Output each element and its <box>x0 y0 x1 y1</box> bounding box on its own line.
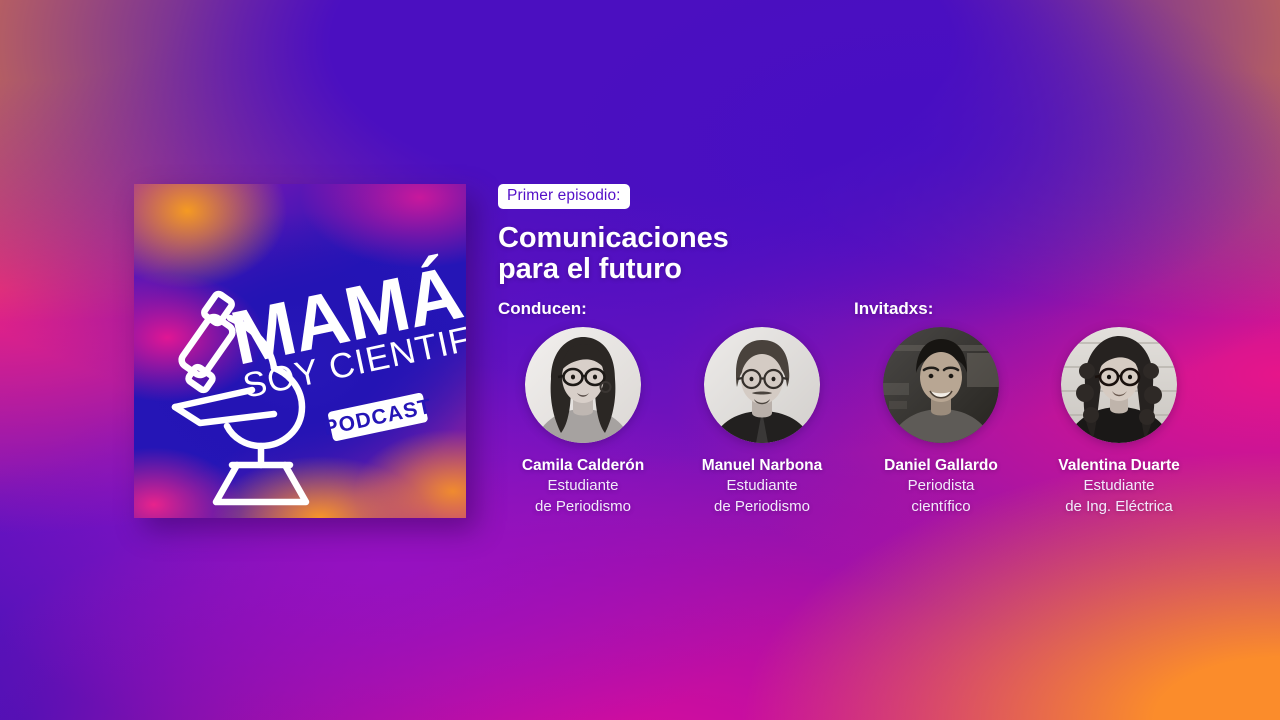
person-name: Camila Calderón <box>494 457 672 475</box>
person-name: Manuel Narbona <box>673 457 851 475</box>
avatar-valentina-duarte[interactable] <box>1061 327 1177 443</box>
podcast-promo-slide: MAMÁ SOY CIENTIFIC@ PODCAST Primer episo… <box>0 0 1280 720</box>
podcast-cover-art[interactable]: MAMÁ SOY CIENTIFIC@ PODCAST <box>134 184 466 518</box>
person-manuel-narbona[interactable]: Manuel Narbona Estudiante de Periodismo <box>673 327 851 518</box>
person-camila-calderon[interactable]: Camila Calderón Estudiante de Periodismo <box>494 327 672 518</box>
person-daniel-gallardo[interactable]: Daniel Gallardo Periodista científico <box>852 327 1030 518</box>
person-role-line-1: Estudiante <box>1030 476 1208 497</box>
avatar-camila-calderon[interactable] <box>525 327 641 443</box>
person-role-line-2: de Periodismo <box>494 497 672 518</box>
person-role: Periodista científico <box>852 476 1030 517</box>
episode-title-line-2: para el futuro <box>498 254 1198 285</box>
people-row: Camila Calderón Estudiante de Periodismo <box>498 327 1198 527</box>
person-valentina-duarte[interactable]: Valentina Duarte Estudiante de Ing. Eléc… <box>1030 327 1208 518</box>
person-role: Estudiante de Periodismo <box>673 476 851 517</box>
cover-art-logo: MAMÁ SOY CIENTIFIC@ PODCAST <box>134 184 466 518</box>
episode-badge: Primer episodio: <box>498 184 630 209</box>
person-name: Valentina Duarte <box>1030 457 1208 475</box>
avatar-daniel-gallardo[interactable] <box>883 327 999 443</box>
episode-title-line-1: Comunicaciones <box>498 223 1198 254</box>
logo-podcast-badge: PODCAST <box>321 391 435 443</box>
role-headings: Conducen: Invitadxs: <box>498 299 1198 325</box>
person-role: Estudiante de Periodismo <box>494 476 672 517</box>
person-role-line-2: de Periodismo <box>673 497 851 518</box>
person-name: Daniel Gallardo <box>852 457 1030 475</box>
logo-podcast-badge-text: PODCAST <box>322 395 434 440</box>
person-role-line-2: científico <box>852 497 1030 518</box>
hosts-label: Conducen: <box>498 299 587 319</box>
episode-title: Comunicaciones para el futuro <box>498 223 1198 285</box>
person-role-line-2: de Ing. Eléctrica <box>1030 497 1208 518</box>
person-role-line-1: Estudiante <box>673 476 851 497</box>
episode-content: Primer episodio: Comunicaciones para el … <box>498 184 1198 527</box>
person-role-line-1: Estudiante <box>494 476 672 497</box>
person-role-line-1: Periodista <box>852 476 1030 497</box>
guests-label: Invitadxs: <box>854 299 933 319</box>
person-role: Estudiante de Ing. Eléctrica <box>1030 476 1208 517</box>
avatar-manuel-narbona[interactable] <box>704 327 820 443</box>
